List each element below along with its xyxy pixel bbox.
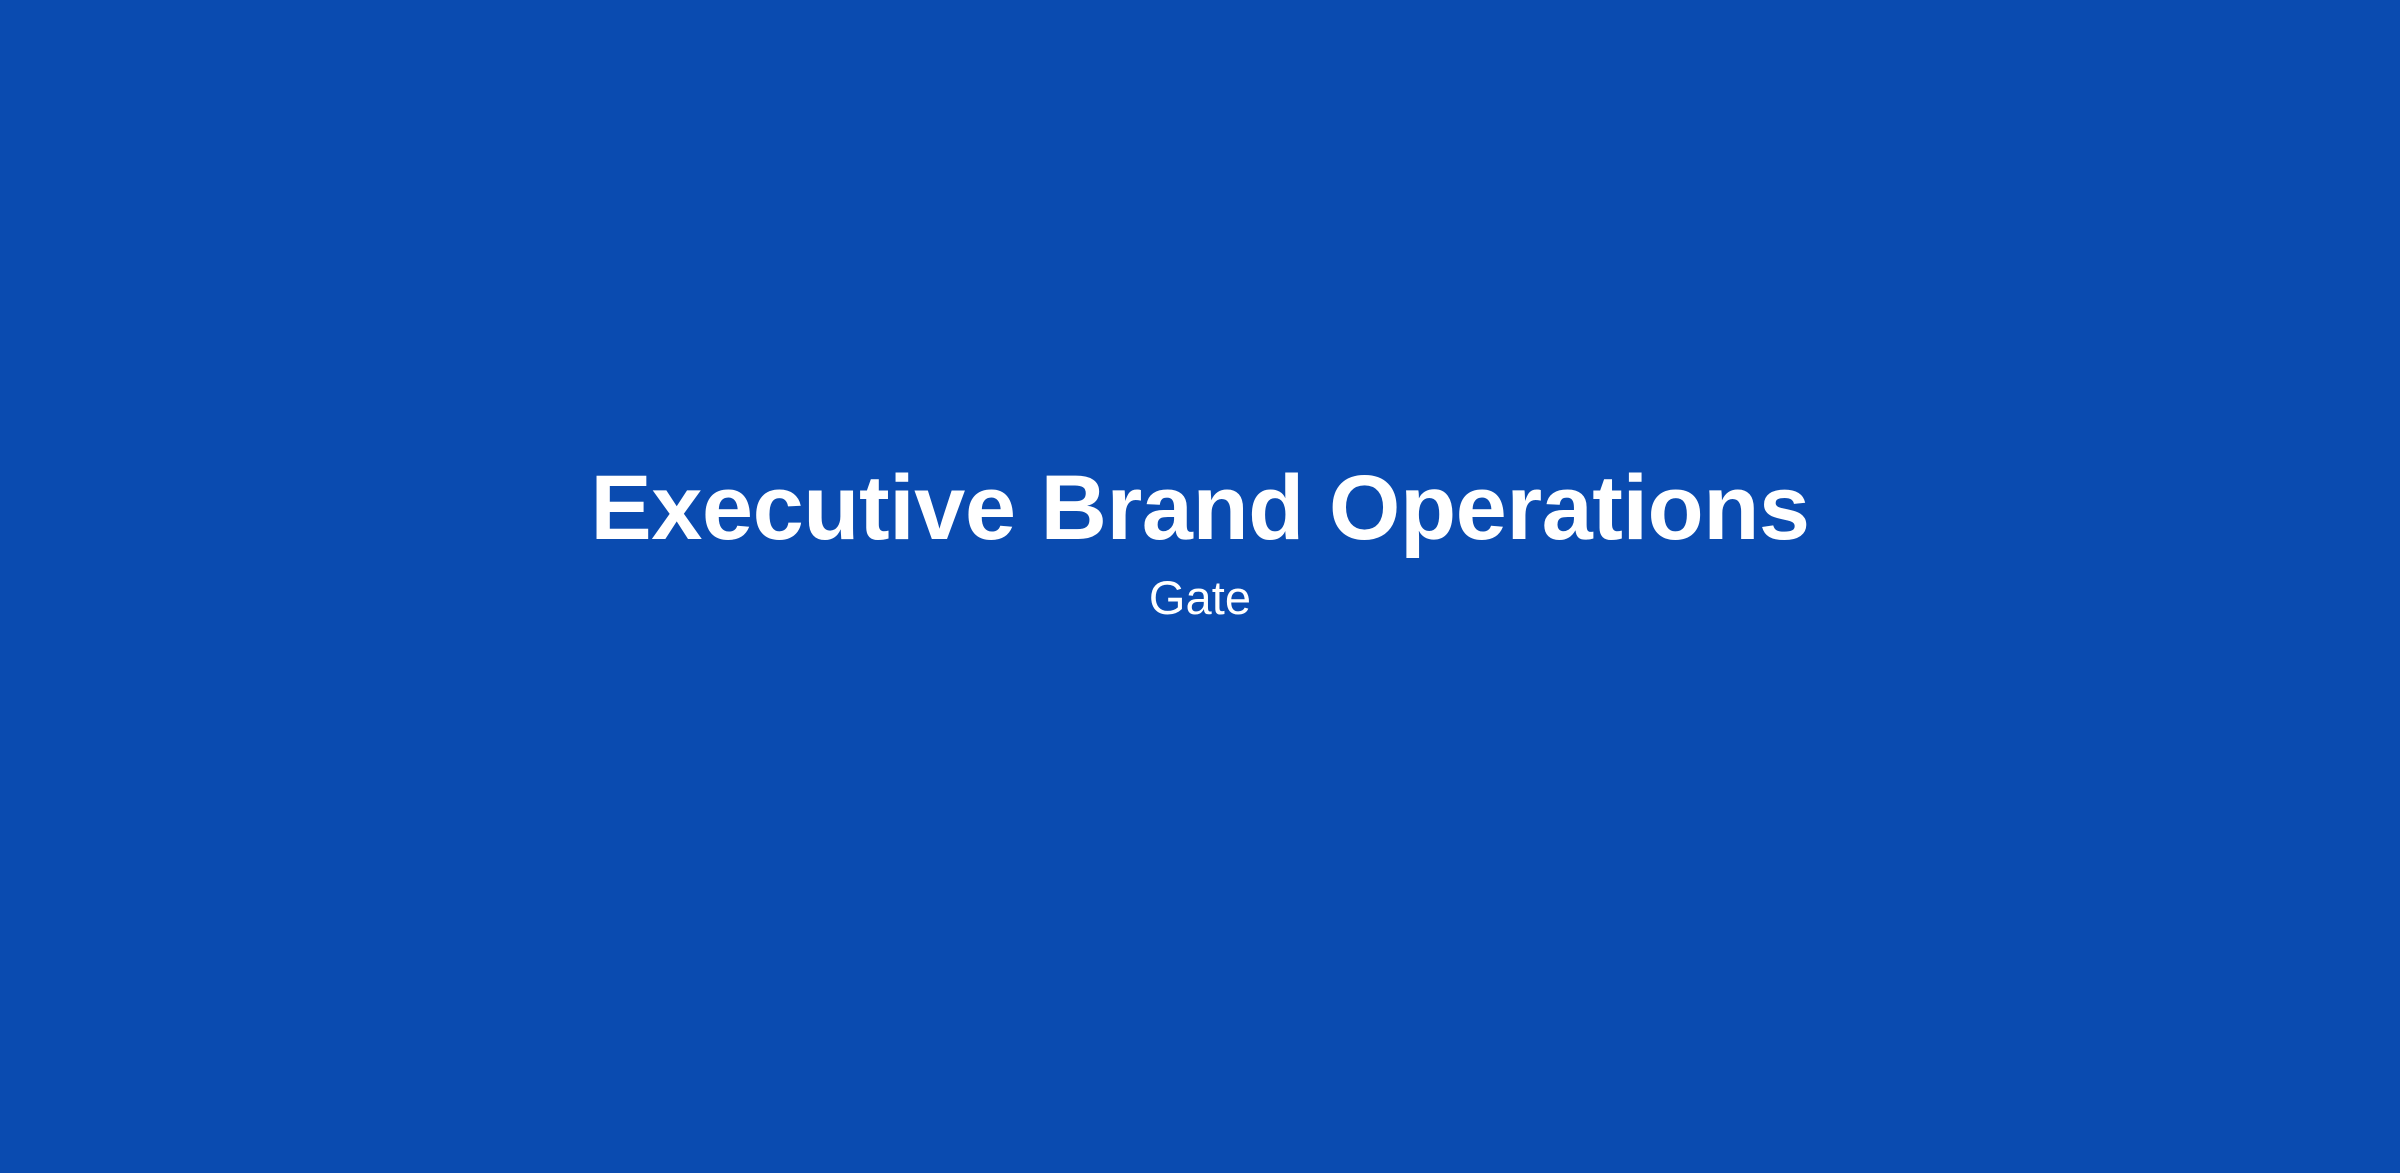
page-subtitle: Gate — [1149, 572, 1251, 625]
title-slide: Executive Brand Operations Gate — [0, 0, 2400, 1173]
title-block: Executive Brand Operations Gate — [590, 460, 1809, 624]
page-title: Executive Brand Operations — [590, 460, 1809, 558]
